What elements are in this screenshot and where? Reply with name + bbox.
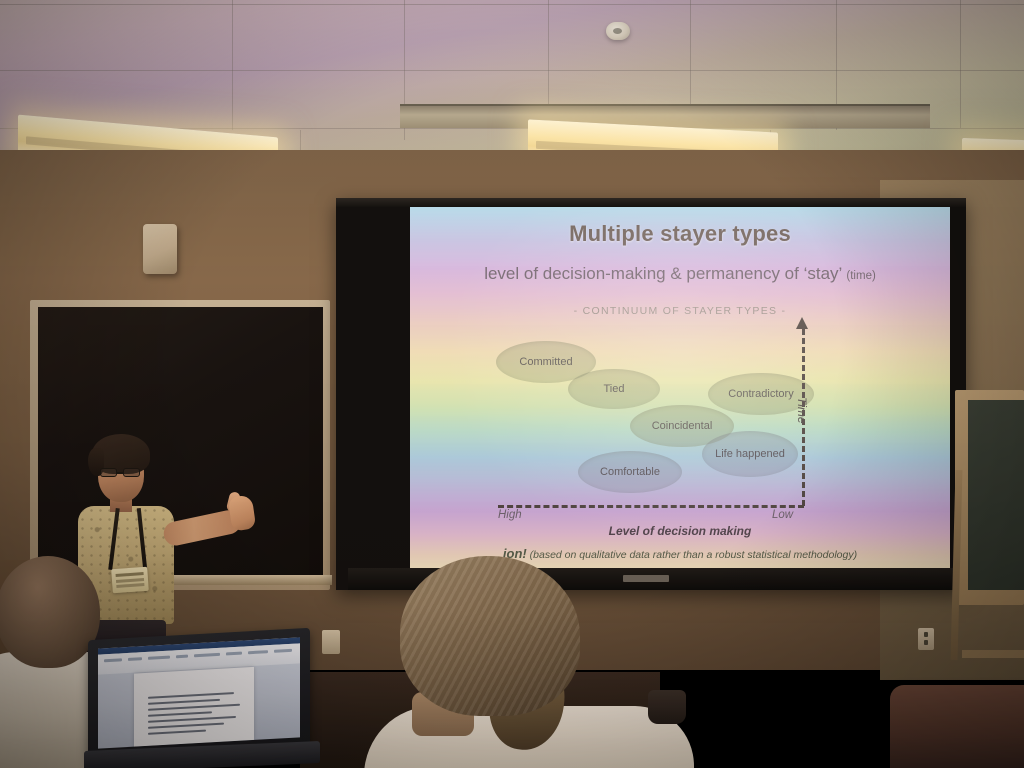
slide-subtitle: level of decision-making & permanency of… [410,264,950,284]
wall-speaker [143,224,177,274]
ceiling-grid-line [960,0,961,128]
slide-subtitle-main: level of decision-making & permanency of… [484,264,841,283]
continuum-diagram: Committed Tied Coincidental Contradictor… [410,319,950,569]
projection-screen-top-bar [336,198,966,207]
lecture-photo: Multiple stayer types level of decision-… [0,0,1024,768]
stayer-bubble-comfortable: Comfortable [578,451,682,493]
presenter-name-badge [111,567,149,593]
glasses-icon [100,468,142,477]
decision-axis-line [498,505,804,508]
stayer-label: Tied [604,383,625,395]
ceiling-grid-line [0,70,1024,71]
stayer-label: Contradictory [728,388,793,400]
projected-slide: Multiple stayer types level of decision-… [410,207,950,569]
stayer-label: Comfortable [600,466,660,478]
slide-title: Multiple stayer types [410,221,950,247]
decision-axis-left-label: High [498,509,522,521]
ceiling-grid-line [232,0,233,130]
laptop [88,634,318,768]
cup [648,690,686,724]
table [890,685,1024,768]
audience-member-center [378,556,688,768]
whiteboard-easel-shelf [962,650,1024,658]
laptop-screen [98,637,300,748]
slide-kicker: - CONTINUUM OF STAYER TYPES - [410,305,950,317]
time-axis-arrow-icon [796,317,808,329]
laptop-document-page [134,667,254,747]
wall-outlet [918,628,934,650]
smoke-detector-icon [606,22,630,40]
decision-axis-label: Level of decision making [410,524,950,538]
stayer-label: Coincidental [652,420,713,432]
decision-axis-right-label: Low [772,509,793,521]
whiteboard-easel-surface [968,400,1024,590]
stayer-label: Life happened [715,448,785,460]
audience-head [0,556,100,668]
stayer-label: Committed [519,356,572,368]
wall-outlet [322,630,340,654]
ceiling-grid-line [0,4,1024,5]
time-axis-label: Time [795,397,809,424]
stayer-bubble-life-happened: Life happened [702,431,798,477]
stayer-bubble-tied: Tied [568,369,660,409]
projector-recess [400,104,930,128]
slide-subtitle-small: (time) [846,270,875,282]
audience-head [400,556,580,716]
